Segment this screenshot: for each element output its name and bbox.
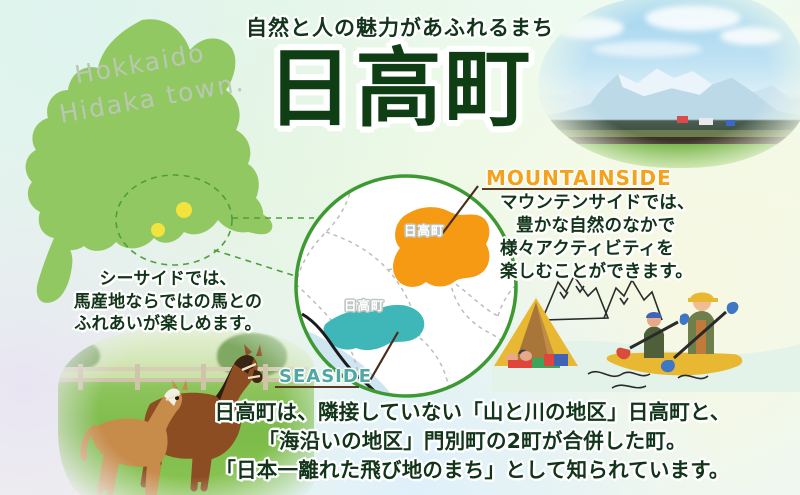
mountainside-description: マウンテンサイドでは、 豊かな自然のなかで 様々アクティビティを 楽しむことがで… xyxy=(500,192,790,284)
map-label-mountainside: 日高町 xyxy=(404,220,445,239)
map-dot-mountainside xyxy=(176,202,192,218)
seaside-label: SEASIDE xyxy=(279,366,372,387)
bottom-line-1: 日高町は、隣接していない「山と川の地区」日高町と、 xyxy=(150,398,795,427)
tent-icon xyxy=(494,298,578,368)
seaside-line-1: シーサイドでは、 xyxy=(38,268,298,291)
mountainside-rule xyxy=(482,188,654,190)
mountainside-line-1: マウンテンサイドでは、 xyxy=(500,192,790,215)
mountainside-line-4: 楽しむことができます。 xyxy=(500,261,790,284)
page-title: 日高町 xyxy=(0,44,800,135)
seaside-description: シーサイドでは、 馬産地ならではの馬との ふれあいが楽しめます。 xyxy=(38,268,298,336)
bottom-line-2: 「海沿いの地区」門別町の2町が合併した町。 xyxy=(150,427,795,456)
mountainside-label: MOUNTAINSIDE xyxy=(486,166,672,190)
seaside-line-2: 馬産地ならではの馬との xyxy=(38,291,298,314)
poster-subtitle: 自然と人の魅力があふれるまち xyxy=(0,18,800,39)
bottom-caption: 日高町は、隣接していない「山と川の地区」日高町と、 「海沿いの地区」門別町の2町… xyxy=(150,398,795,485)
seaside-rule xyxy=(275,386,359,388)
poster-canvas: 日高町 日高町 xyxy=(0,0,800,495)
mountainside-line-3: 様々アクティビティを xyxy=(500,238,790,261)
seaside-line-3: ふれあいが楽しめます。 xyxy=(38,313,298,336)
mountainside-line-2: 豊かな自然のなかで xyxy=(500,215,790,238)
map-dot-seaside xyxy=(151,223,165,237)
bottom-line-3: 「日本一離れた飛び地のまち」として知られています。 xyxy=(150,456,795,485)
map-label-seaside: 日高町 xyxy=(344,295,385,314)
